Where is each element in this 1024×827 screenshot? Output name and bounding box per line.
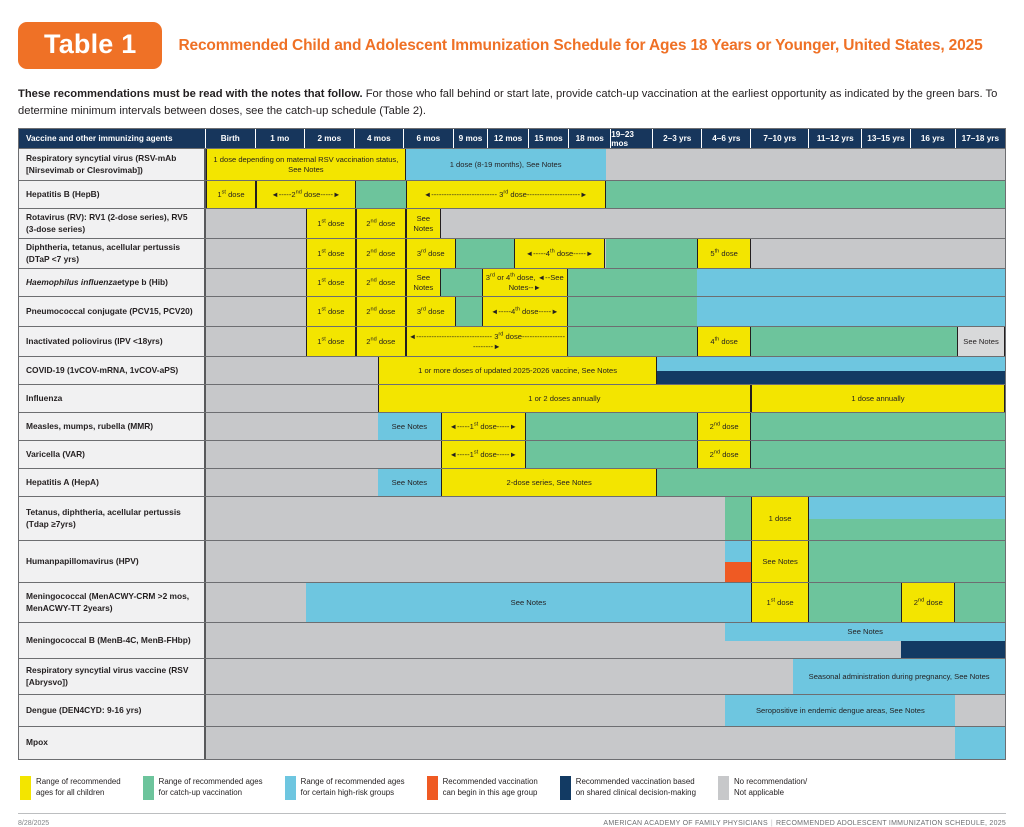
schedule-bar: 3rd dose [406,297,456,326]
schedule-track: See Notes2-dose series, See Notes [206,469,1005,496]
footer-source: AMERICAN ACADEMY OF FAMILY PHYSICIANS|RE… [603,820,1006,827]
schedule-bar-label: See Notes [511,598,546,607]
table-row: Meningococcal (MenACWY-CRM >2 mos, MenAC… [19,583,1005,623]
legend-swatch [718,776,729,800]
schedule-bar-label: 2nd dose [366,278,395,287]
table-row: Measles, mumps, rubella (MMR)See Notes◄-… [19,413,1005,441]
schedule-bar [809,519,1005,541]
schedule-bar: See Notes [406,209,441,238]
schedule-bar: See Notes [378,413,441,440]
schedule-bar [568,297,697,326]
column-header-age: Birth [206,129,256,148]
schedule-track: 1st dose2nd dose◄-----------------------… [206,327,1005,356]
schedule-bar [697,297,1005,326]
schedule-track: Seasonal administration during pregnancy… [206,659,1005,694]
table-row: Diphtheria, tetanus, acellular pertussis… [19,239,1005,269]
legend: Range of recommendedages for all childre… [20,776,1010,800]
schedule-bar: 1 dose [751,497,809,540]
column-header-age: 19–23 mos [611,129,653,148]
column-header-age: 9 mos [454,129,489,148]
intro-paragraph: These recommendations must be read with … [18,86,1006,119]
column-header-age: 2–3 yrs [653,129,702,148]
legend-item: Recommended vaccinationcan begin in this… [427,776,538,800]
schedule-bar: 1st dose [306,327,356,356]
column-header-age: 16 yrs [911,129,956,148]
schedule-bar [456,297,482,326]
schedule-bar: 1st dose [306,239,356,268]
legend-label: Range of recommended agesfor catch-up va… [159,776,263,798]
legend-label: No recommendation/Not applicable [734,776,807,798]
vaccine-name-cell: Meningococcal B (MenB-4C, MenB-FHbp) [19,623,206,658]
schedule-bar: ◄------------------------------ 3rd dose… [406,327,568,356]
column-header-age: 4 mos [355,129,405,148]
schedule-bar [697,269,1005,296]
vaccine-name-cell: Humanpapillomavirus (HPV) [19,541,206,582]
vaccine-name-cell: Rotavirus (RV): RV1 (2-dose series), RV5… [19,209,206,238]
vaccine-name-cell: Varicella (VAR) [19,441,206,468]
schedule-track: 1st dose◄-----2nd dose-----►◄-----------… [206,181,1005,208]
vaccine-name-cell: Pneumococcal conjugate (PCV15, PCV20) [19,297,206,326]
table-row: Humanpapillomavirus (HPV)See Notes [19,541,1005,583]
schedule-track: 1 dose depending on maternal RSV vaccina… [206,149,1005,180]
schedule-bar: 1st dose [306,297,356,326]
schedule-bar: 2nd dose [356,269,406,296]
legend-item: Range of recommended agesfor certain hig… [285,776,405,800]
schedule-bar: 5th dose [697,239,751,268]
schedule-bar-label: 1st dose [317,307,344,316]
schedule-bar: 2nd dose [356,297,406,326]
schedule-bar: ◄-------------------------- 3rd dose----… [406,181,606,208]
vaccine-name-cell: Hepatitis A (HepA) [19,469,206,496]
schedule-bar [441,269,482,296]
table-row: Hepatitis A (HepA)See Notes2-dose series… [19,469,1005,497]
schedule-bar-label: 1st dose [317,278,344,287]
table-row: Pneumococcal conjugate (PCV15, PCV20)1st… [19,297,1005,327]
schedule-bar: 1st dose [206,181,256,208]
schedule-bar [568,327,697,356]
schedule-bar [955,727,1005,759]
table-row: Dengue (DEN4CYD: 9-16 yrs)Seropositive i… [19,695,1005,727]
schedule-bar [809,541,1005,582]
table-row: Hepatitis B (HepB)1st dose◄-----2nd dose… [19,181,1005,209]
schedule-bar-label: Seropositive in endemic dengue areas, Se… [756,706,925,715]
schedule-bar: 2nd dose [356,209,406,238]
legend-label: Range of recommended agesfor certain hig… [301,776,405,798]
schedule-track: See Notes1st dose2nd dose [206,583,1005,622]
schedule-bar-label: 5th dose [710,249,737,258]
table-row: Respiratory syncytial virus vaccine (RSV… [19,659,1005,695]
schedule-bar [526,413,698,440]
schedule-bar: ◄-----2nd dose-----► [256,181,356,208]
schedule-bar: 2nd dose [697,413,751,440]
legend-item: No recommendation/Not applicable [718,776,807,800]
schedule-bar: 2nd dose [356,239,406,268]
schedule-bar-label: ◄-----4th dose-----► [491,307,559,316]
schedule-bar: 3rd or 4th dose, ◄--See Notes--► [482,269,568,296]
schedule-bar [606,239,698,268]
legend-swatch [285,776,296,800]
legend-label-line2: ages for all children [36,788,104,797]
schedule-bar-label: ◄-----1st dose-----► [449,450,517,459]
schedule-bar-label: 2nd dose [366,337,395,346]
schedule-bar [568,269,697,296]
schedule-bar-label: ◄-------------------------- 3rd dose----… [424,190,588,199]
schedule-bar: 1st dose [306,269,356,296]
schedule-bar-label: See Notes [408,273,439,292]
schedule-bar-label: ◄-----4th dose-----► [526,249,594,258]
schedule-bar: 2-dose series, See Notes [441,469,658,496]
footer-org: AMERICAN ACADEMY OF FAMILY PHYSICIANS [603,820,767,827]
vaccine-name-cell: Respiratory syncytial virus (RSV-mAb [Ni… [19,149,206,180]
schedule-track: See Notes [206,623,1005,658]
schedule-bar-label: See Notes [963,337,998,346]
schedule-bar-label: 1 dose annually [851,394,904,403]
schedule-bar-label: 2nd dose [710,450,739,459]
table-row: Tetanus, diphtheria, acellular pertussis… [19,497,1005,541]
schedule-bar [456,239,514,268]
schedule-bar: ◄-----4th dose-----► [482,297,568,326]
legend-label-line2: can begin in this age group [443,788,538,797]
schedule-bar-label: See Notes [847,627,882,636]
schedule-bar [606,181,1006,208]
schedule-bar: 2nd dose [697,441,751,468]
intro-bold: These recommendations must be read with … [18,88,363,100]
schedule-bar-label: 1st dose [317,337,344,346]
schedule-bar [809,497,1005,519]
schedule-bar-label: 1 or 2 doses annually [528,394,600,403]
table-row: Respiratory syncytial virus (RSV-mAb [Ni… [19,149,1005,181]
schedule-bar-label: See Notes [408,214,439,233]
schedule-bar-label: 1st dose [317,249,344,258]
schedule-bar: 1 or 2 doses annually [378,385,751,412]
column-header-age: 6 mos [404,129,454,148]
schedule-bar: 2nd dose [901,583,955,622]
vaccine-name-cell: Dengue (DEN4CYD: 9-16 yrs) [19,695,206,726]
schedule-bar: See Notes [725,623,1005,641]
schedule-bar: 2nd dose [356,327,406,356]
column-header-age: 18 mos [569,129,611,148]
vaccine-name-cell: Mpox [19,727,206,759]
vaccine-name-cell: Diphtheria, tetanus, acellular pertussis… [19,239,206,268]
column-header-age: 4–6 yrs [702,129,751,148]
schedule-bar-label: 2-dose series, See Notes [507,478,592,487]
table-row: Mpox [19,727,1005,759]
age-columns-header: Birth1 mo2 mos4 mos6 mos9 mos12 mos15 mo… [206,129,1005,148]
schedule-bar-label: 1st dose [317,219,344,228]
schedule-bar-label: 2nd dose [366,249,395,258]
schedule-bar-label: 3rd dose [417,249,445,258]
schedule-bar-label: 1 or more doses of updated 2025-2026 vac… [418,366,617,375]
schedule-bar: ◄-----1st dose-----► [441,413,526,440]
schedule-bar [657,357,1005,371]
schedule-bar-label: 2nd dose [366,219,395,228]
schedule-bar: ◄-----1st dose-----► [441,441,526,468]
column-header-age: 12 mos [488,129,528,148]
table-row: COVID-19 (1vCOV-mRNA, 1vCOV-aPS)1 or mor… [19,357,1005,385]
schedule-bar [751,327,957,356]
vaccine-name-cell: Hepatitis B (HepB) [19,181,206,208]
legend-item: Recommended vaccination basedon shared c… [560,776,696,800]
footer-date: 8/28/2025 [18,820,49,827]
page-footer: 8/28/2025 AMERICAN ACADEMY OF FAMILY PHY… [18,820,1006,827]
legend-swatch [427,776,438,800]
legend-label: Recommended vaccinationcan begin in this… [443,776,538,798]
vaccine-name-cell: COVID-19 (1vCOV-mRNA, 1vCOV-aPS) [19,357,206,384]
schedule-track [206,727,1005,759]
table-row: Meningococcal B (MenB-4C, MenB-FHbp)See … [19,623,1005,659]
legend-swatch [143,776,154,800]
schedule-bar [901,641,1005,659]
table-row: Inactivated poliovirus (IPV <18yrs)1st d… [19,327,1005,357]
table-row: Haemophilus influenzae type b (Hib)1st d… [19,269,1005,297]
table-row: Rotavirus (RV): RV1 (2-dose series), RV5… [19,209,1005,239]
schedule-bar-label: Seasonal administration during pregnancy… [809,672,990,681]
schedule-bar: See Notes [751,541,809,582]
schedule-track: 1st dose2nd doseSee Notes3rd or 4th dose… [206,269,1005,296]
schedule-bar-label: ◄-----1st dose-----► [449,422,517,431]
schedule-bar: See Notes [957,327,1005,356]
legend-label: Range of recommendedages for all childre… [36,776,121,798]
schedule-bar-label: See Notes [392,422,427,431]
schedule-bar-label: 1 dose [769,514,792,523]
column-header-age: 15 mos [529,129,569,148]
schedule-bar [657,371,1005,385]
vaccine-name-cell: Meningococcal (MenACWY-CRM >2 mos, MenAC… [19,583,206,622]
schedule-track: ◄-----1st dose-----►2nd dose [206,441,1005,468]
legend-item: Range of recommendedages for all childre… [20,776,121,800]
schedule-bar [809,583,901,622]
schedule-bar-label: 1 dose (8-19 months), See Notes [450,160,562,169]
schedule-bar: 1 dose (8-19 months), See Notes [406,149,606,180]
vaccine-name-cell: Measles, mumps, rubella (MMR) [19,413,206,440]
footer-divider [18,813,1006,814]
schedule-bar [725,541,751,562]
column-header-age: 11–12 yrs [809,129,862,148]
schedule-bar-label: 4th dose [710,337,737,346]
vaccine-name-cell: Inactivated poliovirus (IPV <18yrs) [19,327,206,356]
legend-label-line1: No recommendation/ [734,777,807,786]
schedule-bar: 3rd dose [406,239,456,268]
schedule-bar: ◄-----4th dose-----► [514,239,606,268]
schedule-bar [751,441,1005,468]
schedule-bar-label: ◄-----2nd dose-----► [271,190,340,199]
legend-label-line1: Range of recommended ages [159,777,263,786]
legend-label-line2: on shared clinical decision-making [576,788,696,797]
column-header-age: 2 mos [305,129,355,148]
column-header-age: 13–15 yrs [862,129,910,148]
schedule-track: 1st dose2nd doseSee Notes [206,209,1005,238]
page-root: Table 1 Recommended Child and Adolescent… [0,0,1024,791]
vaccine-name-cell: Influenza [19,385,206,412]
schedule-bar-label: 2nd dose [366,307,395,316]
table-header-row: Vaccine and other immunizing agentsBirth… [19,129,1005,149]
schedule-bar [751,239,1005,268]
schedule-track: 1 dose [206,497,1005,540]
table-row: Varicella (VAR)◄-----1st dose-----►2nd d… [19,441,1005,469]
schedule-bar-label: 3rd dose [417,307,445,316]
table-badge: Table 1 [18,22,162,69]
schedule-bar [725,497,751,540]
schedule-track: 1st dose2nd dose3rd dose◄-----4th dose--… [206,239,1005,268]
vaccine-name-cell: Tetanus, diphtheria, acellular pertussis… [19,497,206,540]
schedule-bar-label: 2nd dose [710,422,739,431]
page-title: Recommended Child and Adolescent Immuniz… [178,37,982,55]
legend-label-line1: Recommended vaccination based [576,777,695,786]
schedule-track: 1 or 2 doses annually1 dose annually [206,385,1005,412]
footer-doc: RECOMMENDED ADOLESCENT IMMUNIZATION SCHE… [776,820,1006,827]
schedule-track: See Notes [206,541,1005,582]
schedule-bar: 4th dose [697,327,751,356]
legend-label-line2: Not applicable [734,788,784,797]
schedule-bar-label: See Notes [392,478,427,487]
schedule-bar: See Notes [406,269,441,296]
schedule-bar-label: 3rd or 4th dose, ◄--See Notes--► [484,273,566,292]
schedule-bar-label: See Notes [762,557,797,566]
column-header-age: 17–18 yrs [956,129,1005,148]
schedule-bar-label: 1st dose [766,598,793,607]
schedule-bar-label: ◄------------------------------ 3rd dose… [408,332,566,351]
schedule-track: 1st dose2nd dose3rd dose◄-----4th dose--… [206,297,1005,326]
schedule-bar: Seasonal administration during pregnancy… [793,659,1005,694]
immunization-schedule-table: Vaccine and other immunizing agentsBirth… [18,128,1006,760]
schedule-bar [526,441,698,468]
table-row: Influenza1 or 2 doses annually1 dose ann… [19,385,1005,413]
schedule-track: See Notes◄-----1st dose-----►2nd dose [206,413,1005,440]
schedule-bar [657,469,1005,496]
column-header-age: 1 mo [256,129,306,148]
schedule-bar [955,583,1005,622]
vaccine-name-cell: Haemophilus influenzae type b (Hib) [19,269,206,296]
schedule-bar: 1 dose depending on maternal RSV vaccina… [206,149,406,180]
legend-label-line1: Recommended vaccination [443,777,538,786]
schedule-bar-label: 1st dose [217,190,244,199]
legend-swatch [560,776,571,800]
schedule-bar: 1st dose [751,583,809,622]
column-header-vaccine: Vaccine and other immunizing agents [19,129,206,148]
legend-swatch [20,776,31,800]
column-header-age: 7–10 yrs [751,129,809,148]
legend-label-line2: for catch-up vaccination [159,788,242,797]
schedule-bar-label: 2nd dose [914,598,943,607]
schedule-bar [751,413,1005,440]
legend-label-line1: Range of recommended [36,777,121,786]
legend-label: Recommended vaccination basedon shared c… [576,776,696,798]
schedule-bar [356,181,406,208]
legend-label-line1: Range of recommended ages [301,777,405,786]
schedule-bar: See Notes [378,469,441,496]
schedule-bar: 1 or more doses of updated 2025-2026 vac… [378,357,658,384]
legend-item: Range of recommended agesfor catch-up va… [143,776,263,800]
page-header: Table 1 Recommended Child and Adolescent… [0,0,1024,69]
schedule-bar: 1 dose annually [751,385,1005,412]
vaccine-name-cell: Respiratory syncytial virus vaccine (RSV… [19,659,206,694]
schedule-bar-label: 1 dose depending on maternal RSV vaccina… [208,155,404,174]
schedule-track: 1 or more doses of updated 2025-2026 vac… [206,357,1005,384]
schedule-bar [725,562,751,583]
schedule-track: Seropositive in endemic dengue areas, Se… [206,695,1005,726]
legend-label-line2: for certain high-risk groups [301,788,394,797]
schedule-bar: Seropositive in endemic dengue areas, Se… [725,695,955,726]
schedule-bar: See Notes [306,583,751,622]
schedule-bar: 1st dose [306,209,356,238]
